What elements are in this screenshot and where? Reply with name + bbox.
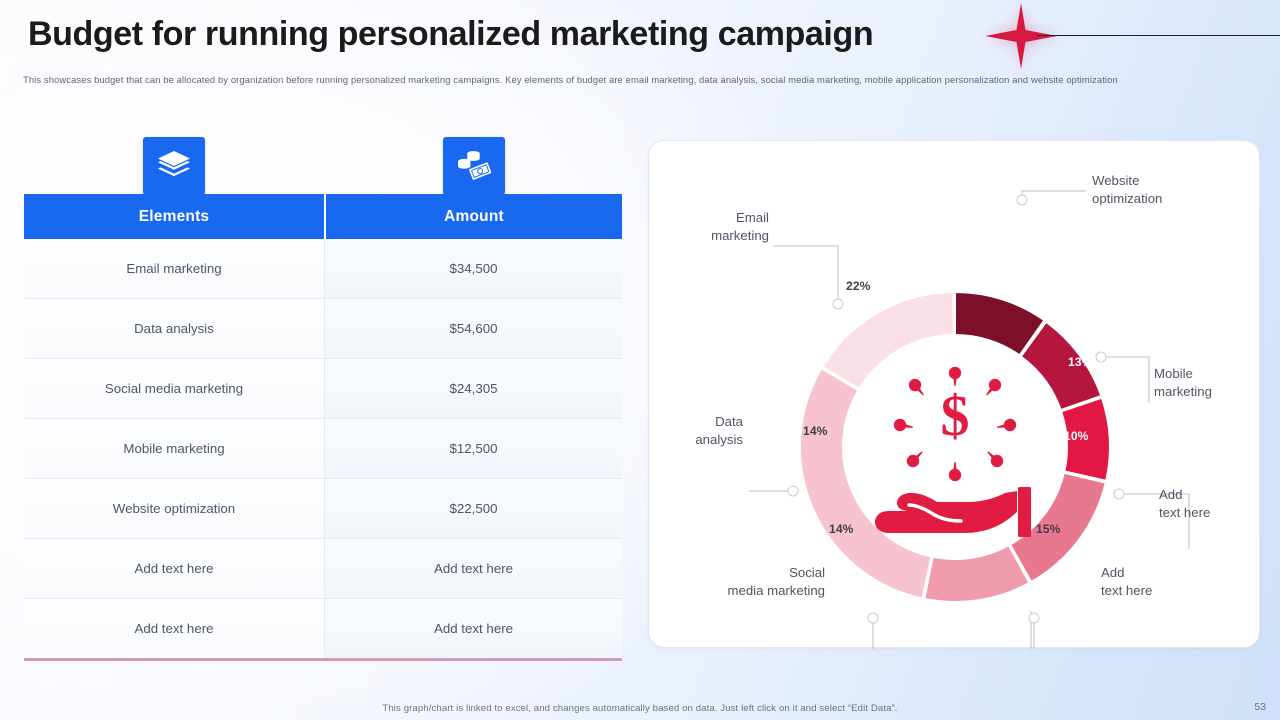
- table-row: Social media marketing $24,305: [24, 359, 622, 419]
- hand-holding-money-icon: $: [875, 367, 1031, 537]
- table-row: Mobile marketing $12,500: [24, 419, 622, 479]
- cell-amount: $54,600: [325, 299, 622, 358]
- cell-element: Website optimization: [24, 479, 325, 538]
- cell-element: Mobile marketing: [24, 419, 325, 478]
- cell-element: Data analysis: [24, 299, 325, 358]
- table-header-icons: [24, 137, 622, 195]
- cell-element-placeholder[interactable]: Add text here: [24, 599, 325, 658]
- cell-amount: $12,500: [325, 419, 622, 478]
- layers-stack-icon: [157, 150, 191, 182]
- cell-element-placeholder[interactable]: Add text here: [24, 539, 325, 598]
- dollar-sign-glyph: $: [941, 383, 970, 448]
- budget-table: Elements Amount Email marketing $34,500 …: [24, 194, 622, 661]
- svg-text:$: $: [941, 383, 970, 448]
- slice-value-mobile-marketing: 13%: [1068, 355, 1093, 369]
- page-subtitle: This showcases budget that can be alloca…: [23, 74, 1255, 87]
- page-number: 53: [1254, 701, 1266, 713]
- cell-element: Email marketing: [24, 239, 325, 298]
- table-row: Data analysis $54,600: [24, 299, 622, 359]
- callout-add-text-right[interactable]: Add text here: [1159, 486, 1210, 522]
- slice-value-email-marketing: 22%: [846, 279, 871, 293]
- layers-stack-icon-tile: [143, 137, 205, 195]
- column-header-elements: Elements: [24, 194, 324, 239]
- cell-element: Social media marketing: [24, 359, 325, 418]
- header-decoration: [985, 3, 1280, 69]
- table-row: Add text here Add text here: [24, 599, 622, 658]
- callout-website-optimization: Website optimization: [1092, 172, 1162, 208]
- callout-add-text-bottom[interactable]: Add text here: [1101, 564, 1152, 600]
- cell-amount-placeholder[interactable]: Add text here: [325, 599, 622, 658]
- cell-amount-placeholder[interactable]: Add text here: [325, 539, 622, 598]
- cell-amount: $34,500: [325, 239, 622, 298]
- callout-mobile-marketing: Mobile marketing: [1154, 365, 1212, 401]
- money-coins-icon-tile: [443, 137, 505, 195]
- callout-email-marketing: Email marketing: [665, 209, 769, 245]
- slice-value-social-media-marketing: 14%: [829, 522, 854, 536]
- chart-footnote: This graph/chart is linked to excel, and…: [0, 703, 1280, 714]
- page-title: Budget for running personalized marketin…: [28, 15, 873, 54]
- callout-data-analysis: Data analysis: [665, 413, 743, 449]
- cell-amount: $24,305: [325, 359, 622, 418]
- cell-amount: $22,500: [325, 479, 622, 538]
- callout-social-media-marketing: Social media marketing: [665, 564, 825, 600]
- slice-value-add-text-bottom: 15%: [1036, 522, 1061, 536]
- money-coins-icon: [456, 150, 492, 183]
- slice-social-media-marketing: [924, 545, 1029, 602]
- slice-value-add-text-right: 10%: [1064, 429, 1089, 443]
- donut-chart-card[interactable]: $ 12% 13% 10% 15% 14% 14% 22%: [648, 140, 1260, 648]
- table-header-row: Elements Amount: [24, 194, 622, 239]
- column-header-amount: Amount: [326, 194, 622, 239]
- table-row: Website optimization $22,500: [24, 479, 622, 539]
- slice-value-data-analysis: 14%: [803, 424, 828, 438]
- slice-value-website-optimization: 12%: [901, 237, 926, 251]
- open-hand-glyph: [875, 487, 1031, 537]
- table-row: Email marketing $34,500: [24, 239, 622, 299]
- header-rule: [1037, 35, 1280, 36]
- table-row: Add text here Add text here: [24, 539, 622, 599]
